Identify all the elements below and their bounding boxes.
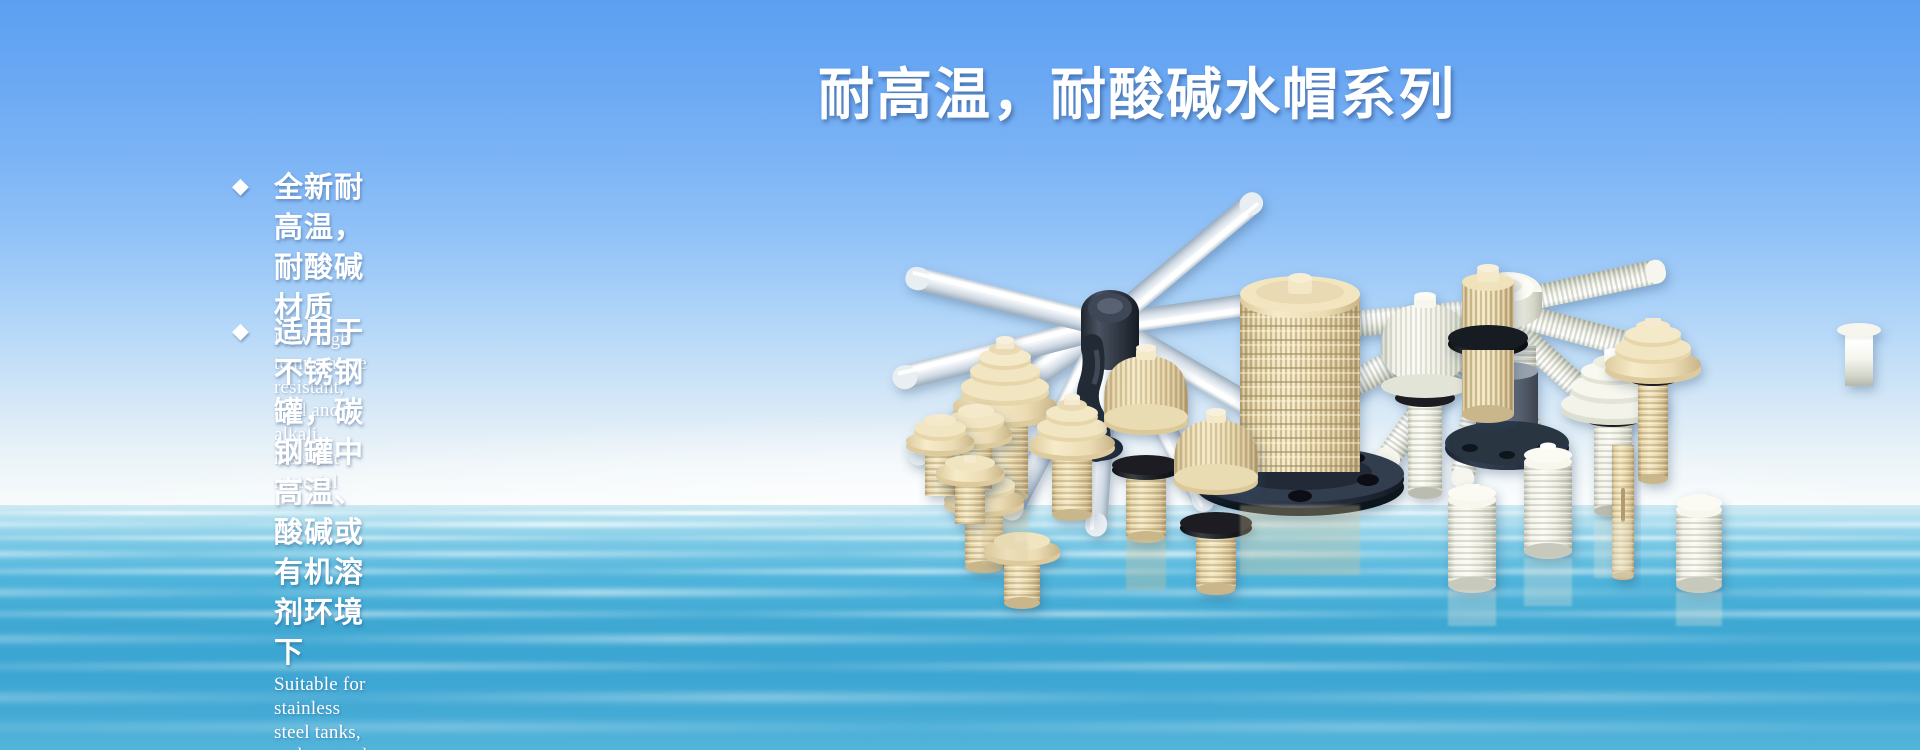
nozzle-canister-white-2: [1448, 484, 1496, 593]
diamond-bullet-icon: ◆: [232, 320, 249, 342]
feature-2-title-cn: 适用于不锈钢罐，碳钢罐中高温、 酸碱或有机溶剂环境下: [274, 313, 380, 673]
product-banner: 耐高温，耐酸碱水帽系列 ◆ 全新耐高温，耐酸碱材质 New high tempe…: [0, 0, 1920, 750]
page-title: 耐高温，耐酸碱水帽系列: [818, 62, 1456, 128]
diamond-bullet-icon: ◆: [232, 175, 249, 197]
feature-2-title-en: Suitable for stainless steel tanks, carb…: [274, 673, 380, 750]
nozzle-right-edge: [1837, 323, 1881, 386]
feature-item-2: ◆ 适用于不锈钢罐，碳钢罐中高温、 酸碱或有机溶剂环境下 Suitable fo…: [232, 313, 380, 750]
nozzle-canister-white: [1524, 443, 1572, 560]
nozzle-canister-white-3: [1676, 494, 1722, 593]
feature-1-title-cn: 全新耐高温，耐酸碱材质: [274, 168, 367, 328]
